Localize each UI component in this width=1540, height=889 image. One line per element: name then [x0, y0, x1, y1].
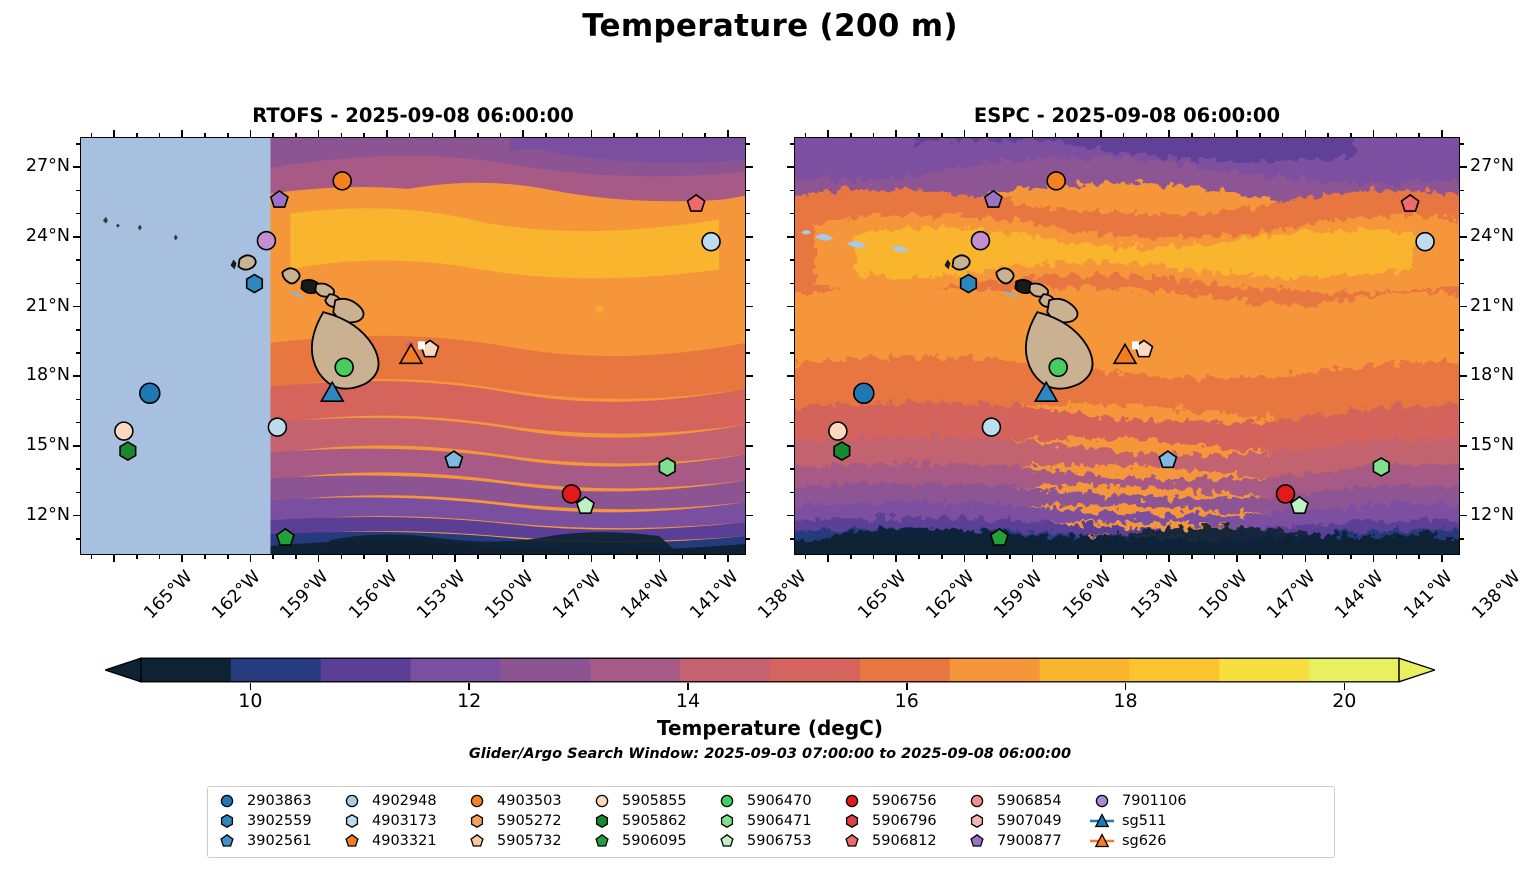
colorbar-label: Temperature (degC): [0, 716, 1540, 740]
legend-item-5906854[interactable]: 5906854: [964, 791, 1089, 811]
ytick-label-left: 21°N: [2, 296, 70, 316]
xtick-minor: [568, 555, 570, 559]
xtick-major: [181, 130, 183, 137]
legend-item-4903503[interactable]: 4903503: [464, 791, 589, 811]
marker-5905862: [120, 442, 136, 460]
xtick-minor: [805, 133, 807, 137]
xtick-minor: [636, 555, 638, 559]
xtick-minor: [941, 133, 943, 137]
ytick-label-right: 12°N: [1470, 505, 1538, 525]
xtick-minor: [1327, 133, 1329, 137]
ytick-major: [73, 306, 80, 308]
legend-item-5906756[interactable]: 5906756: [839, 791, 964, 811]
xtick-major: [1100, 555, 1102, 562]
ytick-minor: [790, 352, 794, 354]
legend-item-3902559[interactable]: 3902559: [214, 811, 339, 831]
legend-item-4903173[interactable]: 4903173: [339, 811, 464, 831]
ytick-minor: [790, 329, 794, 331]
xtick-minor: [704, 555, 706, 559]
xtick-major: [727, 130, 729, 137]
ytick-minor: [1460, 422, 1464, 424]
xtick-minor: [295, 133, 297, 137]
ytick-major: [1460, 236, 1467, 238]
ytick-minor: [1460, 352, 1464, 354]
ytick-label-right: 18°N: [1470, 365, 1538, 385]
xtick-minor: [136, 555, 138, 559]
circle-marker-icon: [339, 792, 365, 810]
ytick-major: [1460, 515, 1467, 517]
xtick-minor: [500, 133, 502, 137]
legend-item-label: 5906470: [747, 793, 812, 809]
xtick-major: [386, 555, 388, 562]
marker-5906470: [335, 358, 353, 376]
xtick-major: [250, 130, 252, 137]
ytick-minor: [1460, 492, 1464, 494]
xtick-minor: [1009, 133, 1011, 137]
xtick-major: [1236, 130, 1238, 137]
ytick-minor: [76, 143, 80, 145]
legend-item-5905855[interactable]: 5905855: [589, 791, 714, 811]
xtick-major: [386, 130, 388, 137]
triangle-line-marker-icon: [1089, 812, 1115, 830]
ytick-minor: [746, 399, 750, 401]
xtick-minor: [341, 555, 343, 559]
legend-item-label: sg511: [1122, 813, 1166, 829]
ytick-minor: [746, 329, 750, 331]
xtick-minor: [1077, 133, 1079, 137]
ytick-minor: [790, 399, 794, 401]
legend-item-5906471[interactable]: 5906471: [714, 811, 839, 831]
legend-item-5905732[interactable]: 5905732: [464, 831, 589, 851]
xtick-major: [1441, 555, 1443, 562]
legend-item-5906796[interactable]: 5906796: [839, 811, 964, 831]
xtick-minor: [1418, 555, 1420, 559]
marker-7901106: [257, 232, 275, 250]
legend-item-5905272[interactable]: 5905272: [464, 811, 589, 831]
ytick-minor: [790, 468, 794, 470]
xtick-minor: [1327, 555, 1329, 559]
xtick-major: [827, 555, 829, 562]
legend-item-5906812[interactable]: 5906812: [839, 831, 964, 851]
legend-item-label: 5906756: [872, 793, 937, 809]
xtick-label: 144°W: [1332, 567, 1388, 623]
xtick-minor: [227, 555, 229, 559]
marker-7900877: [271, 191, 288, 207]
xtick-minor: [873, 555, 875, 559]
ytick-label-left: 12°N: [2, 505, 70, 525]
marker-sg511: [321, 382, 343, 401]
page-title: Temperature (200 m): [0, 8, 1540, 44]
xtick-minor: [432, 133, 434, 137]
xtick-minor: [1123, 133, 1125, 137]
ytick-minor: [746, 143, 750, 145]
ytick-minor: [1460, 143, 1464, 145]
legend-item-2903863[interactable]: 2903863: [214, 791, 339, 811]
ytick-minor: [1460, 399, 1464, 401]
legend-item-7901106[interactable]: 7901106: [1089, 791, 1214, 811]
xtick-minor: [1055, 555, 1057, 559]
ytick-minor: [790, 283, 794, 285]
xtick-label: 138°W: [1468, 567, 1524, 623]
xtick-label: 138°W: [754, 567, 810, 623]
xtick-label: 165°W: [855, 567, 911, 623]
ytick-minor: [76, 190, 80, 192]
legend-item-label: 4902948: [372, 793, 437, 809]
ytick-major: [787, 375, 794, 377]
ytick-label-right: 27°N: [1470, 156, 1538, 176]
xtick-minor: [1396, 555, 1398, 559]
legend-item-3902561[interactable]: 3902561: [214, 831, 339, 851]
ytick-minor: [746, 538, 750, 540]
xtick-minor: [1009, 555, 1011, 559]
ytick-label-right: 21°N: [1470, 296, 1538, 316]
legend-item-label: 5905855: [622, 793, 687, 809]
ytick-major: [1460, 306, 1467, 308]
legend-item-empty: [1214, 831, 1339, 851]
xtick-minor: [91, 555, 93, 559]
xtick-label: 147°W: [1264, 567, 1320, 623]
ytick-minor: [746, 259, 750, 261]
ytick-minor: [790, 492, 794, 494]
legend-item-5906753[interactable]: 5906753: [714, 831, 839, 851]
xtick-major: [1100, 130, 1102, 137]
ytick-label-left: 15°N: [2, 435, 70, 455]
xtick-label: 144°W: [618, 567, 674, 623]
legend-item-label: 7900877: [997, 833, 1062, 849]
ytick-label-left: 27°N: [2, 156, 70, 176]
circle-marker-icon: [839, 792, 865, 810]
ytick-minor: [790, 190, 794, 192]
legend-item-label: 2903863: [247, 793, 312, 809]
ytick-major: [746, 306, 753, 308]
xtick-major: [591, 555, 593, 562]
legend-item-label: 5906471: [747, 813, 812, 829]
xtick-label: 165°W: [141, 567, 197, 623]
xtick-minor: [341, 133, 343, 137]
legend-item-4903321[interactable]: 4903321: [339, 831, 464, 851]
figure: Temperature (200 m) RTOFS - 2025-09-08 0…: [0, 0, 1540, 889]
circle-marker-icon: [589, 792, 615, 810]
xtick-minor: [204, 133, 206, 137]
xtick-minor: [1146, 555, 1148, 559]
ytick-minor: [746, 492, 750, 494]
xtick-minor: [1282, 133, 1284, 137]
ytick-major: [787, 306, 794, 308]
marker-5906812: [688, 195, 705, 211]
ytick-major: [746, 515, 753, 517]
ytick-major: [73, 515, 80, 517]
pentagon-marker-icon: [589, 832, 615, 850]
xtick-major: [964, 130, 966, 137]
circle-marker-icon: [964, 792, 990, 810]
xtick-minor: [204, 555, 206, 559]
ytick-minor: [76, 468, 80, 470]
xtick-major: [454, 130, 456, 137]
xtick-major: [454, 555, 456, 562]
xtick-minor: [682, 555, 684, 559]
legend-item-sg626[interactable]: sg626: [1089, 831, 1214, 851]
xtick-label: 156°W: [345, 567, 401, 623]
xtick-minor: [295, 555, 297, 559]
xtick-minor: [1146, 133, 1148, 137]
ytick-major: [73, 375, 80, 377]
marker-5906471: [659, 458, 675, 476]
xtick-minor: [1259, 555, 1261, 559]
xtick-major: [659, 555, 661, 562]
ytick-label-right: 15°N: [1470, 435, 1538, 455]
xtick-label: 162°W: [923, 567, 979, 623]
ytick-major: [1460, 375, 1467, 377]
ytick-major: [787, 236, 794, 238]
circle-marker-icon: [214, 792, 240, 810]
hexagon-marker-icon: [714, 812, 740, 830]
colorbar-tick-label: 14: [658, 690, 718, 712]
ytick-major: [746, 375, 753, 377]
legend-item-7900877[interactable]: 7900877: [964, 831, 1089, 851]
xtick-minor: [500, 555, 502, 559]
ytick-minor: [746, 283, 750, 285]
ytick-minor: [1460, 213, 1464, 215]
ytick-minor: [790, 143, 794, 145]
xtick-major: [1236, 555, 1238, 562]
ytick-minor: [1460, 259, 1464, 261]
search-window-caption: Glider/Argo Search Window: 2025-09-03 07…: [0, 746, 1540, 762]
ytick-minor: [746, 468, 750, 470]
colorbar-tick-label: 18: [1096, 690, 1156, 712]
ytick-minor: [790, 213, 794, 215]
ytick-minor: [1460, 283, 1464, 285]
xtick-label: 150°W: [481, 567, 537, 623]
ytick-minor: [76, 283, 80, 285]
xtick-minor: [363, 133, 365, 137]
xtick-minor: [477, 555, 479, 559]
xtick-major: [895, 555, 897, 562]
xtick-minor: [986, 133, 988, 137]
legend-item-label: 5905732: [497, 833, 562, 849]
ytick-minor: [76, 422, 80, 424]
xtick-minor: [850, 133, 852, 137]
xtick-major: [727, 555, 729, 562]
xtick-minor: [1077, 555, 1079, 559]
legend-item-label: sg626: [1122, 833, 1166, 849]
hexagon-marker-icon: [214, 812, 240, 830]
xtick-major: [895, 130, 897, 137]
xtick-major: [522, 555, 524, 562]
xtick-minor: [682, 133, 684, 137]
xtick-minor: [1350, 555, 1352, 559]
xtick-minor: [1191, 555, 1193, 559]
hexagon-marker-icon: [964, 812, 990, 830]
xtick-minor: [1396, 133, 1398, 137]
legend-item-label: 4903173: [372, 813, 437, 829]
colorbar-tick-label: 20: [1314, 690, 1374, 712]
circle-marker-icon: [714, 792, 740, 810]
xtick-label: 141°W: [686, 567, 742, 623]
legend-item-5905862[interactable]: 5905862: [589, 811, 714, 831]
xtick-minor: [1259, 133, 1261, 137]
xtick-minor: [409, 555, 411, 559]
xtick-major: [318, 555, 320, 562]
legend-item-4902948[interactable]: 4902948: [339, 791, 464, 811]
colorbar-tick: [468, 683, 470, 690]
legend-item-label: 3902561: [247, 833, 312, 849]
colorbar-tick: [1125, 683, 1127, 690]
xtick-label: 159°W: [991, 567, 1047, 623]
circle-marker-icon: [1089, 792, 1115, 810]
triangle-line-marker-icon: [1089, 832, 1115, 850]
xtick-major: [522, 130, 524, 137]
ytick-minor: [746, 422, 750, 424]
xtick-major: [113, 555, 115, 562]
colorbar-tick-label: 16: [877, 690, 937, 712]
xtick-minor: [545, 133, 547, 137]
map-panel-rtofs[interactable]: [80, 137, 746, 555]
legend-item-empty: [1214, 811, 1339, 831]
pentagon-marker-icon: [464, 832, 490, 850]
ytick-minor: [76, 352, 80, 354]
ytick-minor: [746, 190, 750, 192]
legend-item-label: 5906812: [872, 833, 937, 849]
xtick-major: [1373, 555, 1375, 562]
xtick-minor: [1350, 133, 1352, 137]
ytick-major: [787, 166, 794, 168]
ytick-major: [73, 166, 80, 168]
ytick-major: [1460, 166, 1467, 168]
marker-3902561: [445, 451, 462, 467]
xtick-major: [1168, 555, 1170, 562]
legend-item-label: 5907049: [997, 813, 1062, 829]
ytick-minor: [746, 352, 750, 354]
xtick-label: 156°W: [1059, 567, 1115, 623]
circle-marker-icon: [464, 792, 490, 810]
colorbar-tick: [250, 683, 252, 690]
xtick-minor: [805, 555, 807, 559]
ytick-major: [787, 515, 794, 517]
xtick-minor: [1214, 555, 1216, 559]
pentagon-marker-icon: [339, 832, 365, 850]
ytick-label-right: 24°N: [1470, 226, 1538, 246]
xtick-major: [659, 130, 661, 137]
ytick-label-left: 18°N: [2, 365, 70, 385]
ytick-minor: [790, 259, 794, 261]
ytick-major: [73, 236, 80, 238]
map-panel-espc[interactable]: [794, 137, 1460, 555]
ytick-minor: [746, 213, 750, 215]
xtick-minor: [159, 133, 161, 137]
xtick-minor: [272, 555, 274, 559]
xtick-minor: [272, 133, 274, 137]
xtick-minor: [159, 555, 161, 559]
pentagon-marker-icon: [214, 832, 240, 850]
xtick-major: [964, 555, 966, 562]
ytick-minor: [76, 538, 80, 540]
marker-3902559: [247, 275, 263, 293]
ytick-major: [787, 445, 794, 447]
panel-title-espc: ESPC - 2025-09-08 06:00:00: [794, 104, 1460, 127]
marker-4903173: [268, 418, 286, 436]
xtick-label: 150°W: [1195, 567, 1251, 623]
ytick-minor: [790, 422, 794, 424]
ytick-major: [1460, 445, 1467, 447]
hexagon-marker-icon: [464, 812, 490, 830]
xtick-minor: [1214, 133, 1216, 137]
xtick-major: [113, 130, 115, 137]
legend-item-5906470[interactable]: 5906470: [714, 791, 839, 811]
ytick-minor: [1460, 538, 1464, 540]
legend-item-5907049[interactable]: 5907049: [964, 811, 1089, 831]
xtick-label: 153°W: [413, 567, 469, 623]
ytick-minor: [76, 259, 80, 261]
pentagon-marker-icon: [714, 832, 740, 850]
marker-4903503: [333, 172, 351, 190]
colorbar[interactable]: [105, 657, 1435, 683]
xtick-minor: [850, 555, 852, 559]
marker-5906095: [277, 529, 294, 545]
xtick-major: [1441, 130, 1443, 137]
hexagon-marker-icon: [339, 812, 365, 830]
xtick-minor: [1282, 555, 1284, 559]
marker-2903863: [140, 383, 160, 403]
xtick-minor: [873, 133, 875, 137]
xtick-minor: [918, 555, 920, 559]
xtick-major: [1168, 130, 1170, 137]
ytick-minor: [1460, 468, 1464, 470]
hexagon-marker-icon: [839, 812, 865, 830]
legend-item-sg511[interactable]: sg511: [1089, 811, 1214, 831]
xtick-minor: [363, 555, 365, 559]
xtick-label: 153°W: [1127, 567, 1183, 623]
ytick-label-left: 24°N: [2, 226, 70, 246]
ytick-major: [746, 445, 753, 447]
ytick-major: [746, 236, 753, 238]
xtick-minor: [136, 133, 138, 137]
xtick-minor: [1191, 133, 1193, 137]
legend-item-label: 3902559: [247, 813, 312, 829]
colorbar-tick-label: 10: [220, 690, 280, 712]
xtick-major: [1032, 130, 1034, 137]
xtick-major: [1305, 130, 1307, 137]
colorbar-tick: [906, 683, 908, 690]
xtick-minor: [941, 555, 943, 559]
xtick-label: 141°W: [1400, 567, 1456, 623]
legend-item-label: 7901106: [1122, 793, 1187, 809]
legend-item-5906095[interactable]: 5906095: [589, 831, 714, 851]
colorbar-tick-label: 12: [439, 690, 499, 712]
xtick-major: [250, 555, 252, 562]
xtick-label: 159°W: [277, 567, 333, 623]
xtick-major: [1305, 555, 1307, 562]
xtick-major: [591, 130, 593, 137]
legend-item-label: 5906854: [997, 793, 1062, 809]
ytick-minor: [76, 399, 80, 401]
xtick-minor: [1123, 555, 1125, 559]
pentagon-marker-icon: [964, 832, 990, 850]
xtick-minor: [918, 133, 920, 137]
ytick-major: [746, 166, 753, 168]
colorbar-tick: [1344, 683, 1346, 690]
ytick-minor: [1460, 190, 1464, 192]
legend-item-label: 5906095: [622, 833, 687, 849]
xtick-minor: [227, 133, 229, 137]
hexagon-marker-icon: [589, 812, 615, 830]
xtick-minor: [986, 555, 988, 559]
xtick-minor: [91, 133, 93, 137]
legend-box: 2903863490294849035035905855590647059067…: [207, 786, 1335, 858]
legend-item-empty: [1214, 791, 1339, 811]
legend-item-label: 5906753: [747, 833, 812, 849]
legend-item-label: 4903503: [497, 793, 562, 809]
xtick-major: [1032, 555, 1034, 562]
